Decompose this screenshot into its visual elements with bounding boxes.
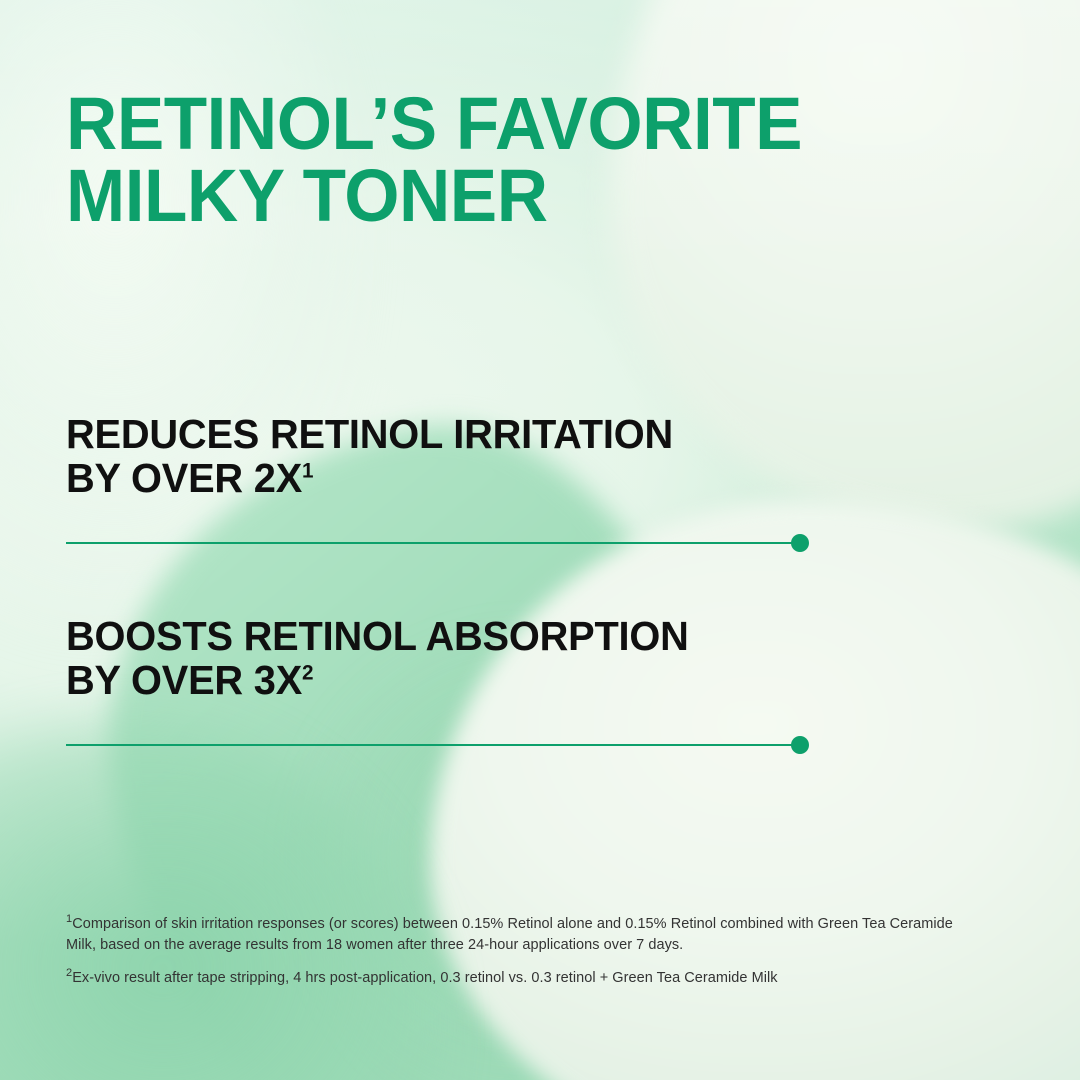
claim-block-absorption: BOOSTS RETINOL ABSORPTION BY OVER 3X2 <box>66 614 1026 703</box>
claim-divider-absorption <box>66 736 800 754</box>
footnote-2: 2Ex-vivo result after tape stripping, 4 … <box>66 968 976 989</box>
divider-dot-icon <box>791 534 809 552</box>
divider-dot-icon <box>791 736 809 754</box>
content-layer: RETINOL’S FAVORITE MILKY TONER REDUCES R… <box>0 0 1080 1080</box>
footnote-1: 1Comparison of skin irritation responses… <box>66 914 976 957</box>
claim-line-1: REDUCES RETINOL IRRITATION <box>66 411 673 457</box>
claim-line-1: BOOSTS RETINOL ABSORPTION <box>66 613 689 659</box>
claim-footnote-marker: 1 <box>302 459 313 483</box>
divider-rule <box>66 744 800 746</box>
headline-line-1: RETINOL’S FAVORITE <box>66 82 802 165</box>
claim-text: REDUCES RETINOL IRRITATION BY OVER 2X1 <box>66 412 997 501</box>
claim-footnote-marker: 2 <box>302 661 313 685</box>
claim-line-2: BY OVER 2X <box>66 455 302 501</box>
claim-divider-irritation <box>66 534 800 552</box>
claim-text: BOOSTS RETINOL ABSORPTION BY OVER 3X2 <box>66 614 997 703</box>
footnotes: 1Comparison of skin irritation responses… <box>66 914 976 989</box>
page-title: RETINOL’S FAVORITE MILKY TONER <box>66 88 949 232</box>
claim-line-2: BY OVER 3X <box>66 657 302 703</box>
footnote-text: Comparison of skin irritation responses … <box>66 916 953 953</box>
claim-block-irritation: REDUCES RETINOL IRRITATION BY OVER 2X1 <box>66 412 1026 501</box>
footnote-text: Ex-vivo result after tape stripping, 4 h… <box>72 970 777 986</box>
promo-canvas: RETINOL’S FAVORITE MILKY TONER REDUCES R… <box>0 0 1080 1080</box>
headline-line-2: MILKY TONER <box>66 154 548 237</box>
divider-rule <box>66 542 800 544</box>
